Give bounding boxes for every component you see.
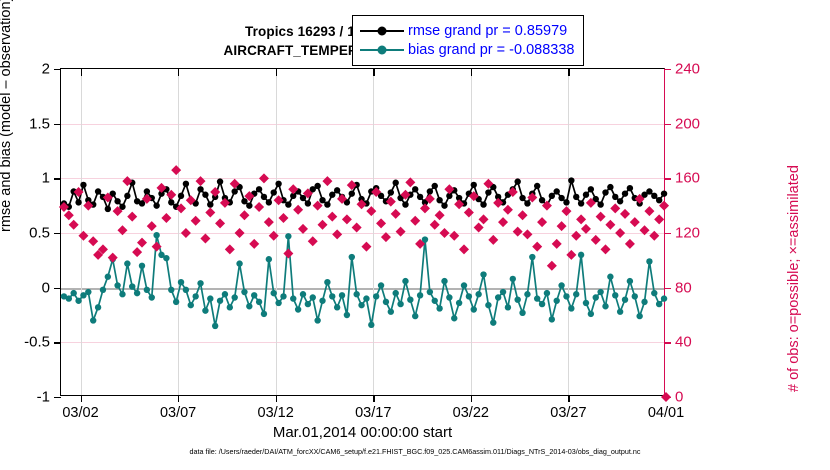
- obs-count-marker: [439, 228, 449, 238]
- obs-count-marker: [293, 205, 303, 215]
- obs-count-marker: [161, 213, 171, 223]
- bias-marker: [471, 306, 477, 312]
- rmse-marker: [217, 178, 223, 184]
- obs-count-marker: [220, 198, 230, 208]
- rmse-marker: [261, 194, 267, 200]
- bias-marker: [227, 304, 233, 310]
- bias-marker: [510, 276, 516, 282]
- obs-count-marker: [137, 238, 147, 248]
- rmse-marker: [275, 181, 281, 187]
- rmse-marker: [514, 178, 520, 184]
- obs-count-marker: [537, 217, 547, 227]
- y-axis-right-tick-label: 0: [675, 389, 683, 406]
- bias-marker: [231, 294, 237, 300]
- obs-count-marker: [196, 176, 206, 186]
- y-axis-left-tick-label: 2: [42, 61, 50, 78]
- bias-marker: [217, 298, 223, 304]
- bias-marker: [490, 319, 496, 325]
- rmse-marker: [314, 183, 320, 189]
- y-axis-right-tick-label: 120: [675, 225, 700, 242]
- rmse-marker: [324, 201, 330, 207]
- bias-marker: [310, 294, 316, 300]
- bias-marker: [524, 291, 530, 297]
- tick-bottom: [81, 395, 82, 402]
- obs-count-marker: [332, 229, 342, 239]
- legend: rmse grand pr = 0.85979 bias grand pr = …: [352, 15, 584, 66]
- obs-count-marker: [605, 220, 615, 230]
- tick-bottom: [276, 395, 277, 402]
- bias-marker: [417, 292, 423, 298]
- obs-count-marker: [591, 235, 601, 245]
- y-axis-left-tick-label: -1: [37, 389, 50, 406]
- page-title-line1: Tropics 16293 / 16301 = 99.951%: [0, 24, 700, 39]
- bias-marker: [514, 296, 520, 302]
- obs-count-marker: [239, 210, 249, 220]
- obs-count-marker: [361, 242, 371, 252]
- rmse-marker: [436, 197, 442, 203]
- tick-top: [373, 69, 374, 76]
- bias-marker: [75, 298, 81, 304]
- bias-marker: [134, 290, 140, 296]
- bias-marker: [578, 252, 584, 258]
- rmse-marker: [656, 197, 662, 203]
- bias-marker: [70, 290, 76, 296]
- legend-label-bias: bias grand pr = -0.088338: [408, 42, 574, 58]
- obs-count-marker: [259, 173, 269, 183]
- obs-count-marker: [571, 231, 581, 241]
- obs-count-marker: [449, 231, 459, 241]
- rmse-marker: [612, 194, 618, 200]
- tick-right: [664, 124, 671, 125]
- bias-marker: [412, 313, 418, 319]
- rmse-marker: [534, 183, 540, 189]
- tick-top: [471, 69, 472, 76]
- bias-marker: [534, 295, 540, 301]
- x-axis-tick-label: 03/22: [453, 405, 489, 421]
- x-axis-title: Mar.01,2014 00:00:00 start: [60, 424, 665, 441]
- rmse-marker: [602, 189, 608, 195]
- obs-count-marker: [376, 218, 386, 228]
- obs-count-marker: [352, 223, 362, 233]
- bias-marker: [661, 295, 667, 301]
- bias-marker: [358, 302, 364, 308]
- bias-marker: [275, 300, 281, 306]
- bias-marker: [353, 291, 359, 297]
- rmse-marker: [75, 199, 81, 205]
- bias-marker: [407, 296, 413, 302]
- bias-marker: [388, 309, 394, 315]
- rmse-marker: [271, 189, 277, 195]
- bias-marker: [153, 232, 159, 238]
- bias-marker: [261, 311, 267, 317]
- obs-count-marker: [108, 253, 118, 263]
- rmse-marker: [588, 186, 594, 192]
- rmse-marker: [432, 183, 438, 189]
- tick-left: [54, 288, 61, 289]
- obs-count-marker: [64, 210, 74, 220]
- obs-count-marker: [235, 228, 245, 238]
- rmse-marker: [441, 202, 447, 208]
- rmse-marker: [583, 192, 589, 198]
- tick-bottom: [178, 395, 179, 402]
- rmse-marker: [539, 197, 545, 203]
- bias-marker: [207, 295, 213, 301]
- bias-marker: [607, 274, 613, 280]
- rmse-marker: [480, 201, 486, 207]
- y-axis-left-tick-label: 1.5: [29, 115, 50, 132]
- bias-marker: [451, 315, 457, 321]
- rmse-marker: [412, 186, 418, 192]
- obs-count-marker: [278, 213, 288, 223]
- rmse-marker: [617, 198, 623, 204]
- rmse-marker: [231, 188, 237, 194]
- y-axis-right-tick-label: 40: [675, 334, 692, 351]
- bias-marker: [500, 289, 506, 295]
- tick-left: [54, 178, 61, 179]
- obs-count-marker: [557, 221, 567, 231]
- bias-marker: [656, 301, 662, 307]
- obs-count-marker: [610, 203, 620, 213]
- obs-count-marker: [474, 223, 484, 233]
- obs-count-marker: [327, 212, 337, 222]
- bias-marker: [651, 290, 657, 296]
- bias-marker: [397, 301, 403, 307]
- obs-count-marker: [391, 209, 401, 219]
- x-axis-tick-label: 04/01: [648, 405, 684, 421]
- bias-marker: [573, 291, 579, 297]
- legend-marker-rmse: [360, 30, 404, 32]
- obs-count-marker: [566, 250, 576, 260]
- obs-count-marker: [581, 224, 591, 234]
- rmse-marker: [393, 180, 399, 186]
- bias-marker: [368, 322, 374, 328]
- obs-count-marker: [625, 239, 635, 249]
- bias-marker: [466, 293, 472, 299]
- obs-count-marker: [254, 202, 264, 212]
- obs-count-marker: [420, 203, 430, 213]
- bias-marker: [183, 287, 189, 293]
- rmse-marker: [485, 189, 491, 195]
- rmse-marker: [80, 182, 86, 188]
- bias-marker: [85, 289, 91, 295]
- rmse-marker: [646, 188, 652, 194]
- rmse-marker: [388, 189, 394, 195]
- bias-marker: [95, 304, 101, 310]
- tick-right: [664, 342, 671, 343]
- rmse-marker: [305, 200, 311, 206]
- bias-marker: [563, 293, 569, 299]
- obs-count-marker: [69, 220, 79, 230]
- tick-right: [664, 69, 671, 70]
- obs-count-marker: [249, 239, 259, 249]
- footer-data-file: data file: /Users/raeder/DAI/ATM_forcXX/…: [0, 447, 830, 456]
- obs-count-marker: [547, 261, 557, 271]
- bias-marker: [105, 274, 111, 280]
- rmse-marker: [417, 194, 423, 200]
- obs-count-marker: [59, 202, 69, 212]
- rmse-marker: [95, 188, 101, 194]
- rmse-marker: [558, 195, 564, 201]
- rmse-marker: [627, 185, 633, 191]
- bias-marker: [246, 303, 252, 309]
- bias-marker: [480, 271, 486, 277]
- bias-marker: [314, 317, 320, 323]
- rmse-marker: [622, 190, 628, 196]
- obs-count-marker: [117, 225, 127, 235]
- bias-marker: [202, 307, 208, 313]
- obs-count-marker: [410, 216, 420, 226]
- obs-count-marker: [147, 221, 157, 231]
- obs-count-marker: [493, 198, 503, 208]
- rmse-marker: [334, 187, 340, 193]
- bias-marker: [549, 316, 555, 322]
- bias-marker: [373, 293, 379, 299]
- rmse-marker: [300, 195, 306, 201]
- obs-count-marker: [513, 227, 523, 237]
- obs-count-marker: [318, 220, 328, 230]
- bias-marker: [441, 278, 447, 284]
- bias-marker: [212, 323, 218, 329]
- rmse-marker: [144, 188, 150, 194]
- bias-marker: [90, 317, 96, 323]
- bias-marker: [149, 294, 155, 300]
- bias-marker: [334, 304, 340, 310]
- x-axis-tick-label: 03/07: [160, 405, 196, 421]
- bias-marker: [612, 292, 618, 298]
- obs-count-marker: [430, 220, 440, 230]
- obs-count-marker: [205, 208, 215, 218]
- bias-marker: [241, 289, 247, 295]
- y-axis-left-tick-label: 0: [42, 279, 50, 296]
- rmse-marker: [183, 181, 189, 187]
- bias-marker: [641, 299, 647, 305]
- obs-count-marker: [132, 247, 142, 257]
- rmse-marker: [197, 186, 203, 192]
- bias-marker: [495, 294, 501, 300]
- tick-bottom: [568, 395, 569, 402]
- obs-count-marker: [396, 227, 406, 237]
- y-axis-right-tick-label: 240: [675, 61, 700, 78]
- tick-right: [664, 233, 671, 234]
- bias-marker: [271, 290, 277, 296]
- bias-marker: [295, 306, 301, 312]
- obs-count-marker: [522, 229, 532, 239]
- bias-marker: [236, 260, 242, 266]
- obs-count-marker: [308, 236, 318, 246]
- obs-count-marker: [644, 206, 654, 216]
- bias-marker: [363, 295, 369, 301]
- rmse-marker: [139, 200, 145, 206]
- obs-count-marker: [488, 235, 498, 245]
- bias-marker: [178, 279, 184, 285]
- obs-count-marker: [215, 218, 225, 228]
- bias-marker: [339, 292, 345, 298]
- obs-count-marker: [366, 206, 376, 216]
- rmse-marker: [202, 192, 208, 198]
- bias-marker: [646, 258, 652, 264]
- legend-item[interactable]: rmse grand pr = 0.85979: [360, 21, 574, 40]
- obs-count-marker: [78, 231, 88, 241]
- bias-marker: [436, 305, 442, 311]
- bias-marker: [378, 282, 384, 288]
- obs-count-marker: [322, 176, 332, 186]
- rmse-marker: [114, 198, 120, 204]
- tick-left: [54, 69, 61, 70]
- obs-count-marker: [640, 225, 650, 235]
- bias-marker: [266, 256, 272, 262]
- legend-marker-bias: [360, 49, 404, 51]
- bias-marker: [124, 260, 130, 266]
- tick-top: [568, 69, 569, 76]
- bias-marker: [461, 282, 467, 288]
- bias-marker: [66, 295, 72, 301]
- tick-top: [276, 69, 277, 76]
- bias-marker: [114, 282, 120, 288]
- rmse-marker: [241, 198, 247, 204]
- obs-count-marker: [503, 205, 513, 215]
- bias-marker: [251, 292, 257, 298]
- tick-left: [54, 397, 61, 398]
- obs-count-marker: [459, 244, 469, 254]
- tick-left: [54, 124, 61, 125]
- bias-marker: [290, 295, 296, 301]
- obs-count-marker: [127, 212, 137, 222]
- x-axis-tick-label: 03/27: [550, 405, 586, 421]
- bias-marker: [593, 294, 599, 300]
- rmse-marker: [563, 199, 569, 205]
- obs-count-marker: [298, 224, 308, 234]
- bias-marker: [622, 296, 628, 302]
- y-axis-left-tick-label: 1: [42, 170, 50, 187]
- obs-count-marker: [88, 236, 98, 246]
- bias-marker: [144, 287, 150, 293]
- bias-marker: [558, 282, 564, 288]
- rmse-marker: [266, 199, 272, 205]
- tick-top: [178, 69, 179, 76]
- rmse-marker: [402, 201, 408, 207]
- legend-item[interactable]: bias grand pr = -0.088338: [360, 40, 574, 59]
- bias-marker: [456, 300, 462, 306]
- bias-marker: [588, 311, 594, 317]
- obs-count-marker: [615, 228, 625, 238]
- rmse-marker: [207, 201, 213, 207]
- bias-marker: [168, 287, 174, 293]
- y-axis-left-tick-label: -0.5: [24, 334, 50, 351]
- bias-marker: [505, 304, 511, 310]
- obs-count-marker: [342, 214, 352, 224]
- bias-marker: [119, 291, 125, 297]
- obs-count-marker: [620, 209, 630, 219]
- bias-marker: [402, 278, 408, 284]
- bias-marker: [393, 290, 399, 296]
- bias-marker: [329, 293, 335, 299]
- bias-marker: [349, 254, 355, 260]
- obs-count-marker: [381, 232, 391, 242]
- y-axis-left-tick-label: 0.5: [29, 225, 50, 242]
- bias-marker: [485, 302, 491, 308]
- obs-count-marker: [264, 217, 274, 227]
- rmse-marker: [651, 193, 657, 199]
- bias-marker: [319, 298, 325, 304]
- bias-marker: [192, 293, 198, 299]
- bias-marker: [163, 255, 169, 261]
- bias-marker: [597, 289, 603, 295]
- obs-count-marker: [191, 216, 201, 226]
- bias-marker: [544, 290, 550, 296]
- tick-right: [664, 288, 671, 289]
- bias-marker: [446, 294, 452, 300]
- rmse-marker: [427, 188, 433, 194]
- tick-bottom: [471, 395, 472, 402]
- obs-count-marker: [181, 228, 191, 238]
- bias-marker: [324, 279, 330, 285]
- rmse-marker: [256, 186, 262, 192]
- obs-count-marker: [498, 217, 508, 227]
- bias-marker: [602, 303, 608, 309]
- x-axis-tick-label: 03/02: [62, 405, 98, 421]
- rmse-marker: [597, 201, 603, 207]
- rmse-marker: [153, 202, 159, 208]
- bias-marker: [539, 301, 545, 307]
- bias-marker: [305, 301, 311, 307]
- bias-marker: [427, 289, 433, 295]
- bias-marker: [519, 310, 525, 316]
- rmse-marker: [578, 200, 584, 206]
- bias-marker: [100, 287, 106, 293]
- y-axis-left-label: rmse and bias (model – observation): [0, 0, 14, 232]
- rmse-marker: [524, 200, 530, 206]
- bias-marker: [627, 278, 633, 284]
- rmse-marker: [168, 199, 174, 205]
- rmse-marker: [178, 193, 184, 199]
- y-axis-right-tick-label: 200: [675, 115, 700, 132]
- chart-page: Tropics 16293 / 16301 = 99.951% AIRCRAFT…: [0, 0, 830, 470]
- rmse-marker: [573, 194, 579, 200]
- obs-count-marker: [576, 214, 586, 224]
- obs-count-marker: [649, 231, 659, 241]
- tick-left: [54, 233, 61, 234]
- x-axis-tick-label: 03/12: [258, 405, 294, 421]
- obs-count-marker: [200, 233, 210, 243]
- obs-count-marker: [654, 214, 664, 224]
- y-axis-right-tick-label: 160: [675, 170, 700, 187]
- bias-marker: [197, 280, 203, 286]
- obs-count-marker: [405, 177, 415, 187]
- bias-marker: [568, 305, 574, 311]
- rmse-marker: [568, 177, 574, 183]
- rmse-marker: [519, 195, 525, 201]
- bias-marker: [300, 291, 306, 297]
- bias-marker: [344, 312, 350, 318]
- obs-count-marker: [283, 249, 293, 259]
- bias-marker: [632, 293, 638, 299]
- bias-marker: [554, 298, 560, 304]
- bias-marker: [285, 233, 291, 239]
- obs-count-marker: [601, 244, 611, 254]
- obs-count-marker: [552, 239, 562, 249]
- legend-label-rmse: rmse grand pr = 0.85979: [408, 23, 567, 39]
- tick-right: [664, 397, 671, 398]
- bias-marker: [139, 263, 145, 269]
- bias-marker: [173, 299, 179, 305]
- obs-count-marker: [630, 217, 640, 227]
- tick-left: [54, 342, 61, 343]
- bias-marker: [529, 254, 535, 260]
- rmse-marker: [607, 184, 613, 190]
- rmse-marker: [471, 182, 477, 188]
- obs-count-marker: [464, 208, 474, 218]
- obs-count-marker: [435, 210, 445, 220]
